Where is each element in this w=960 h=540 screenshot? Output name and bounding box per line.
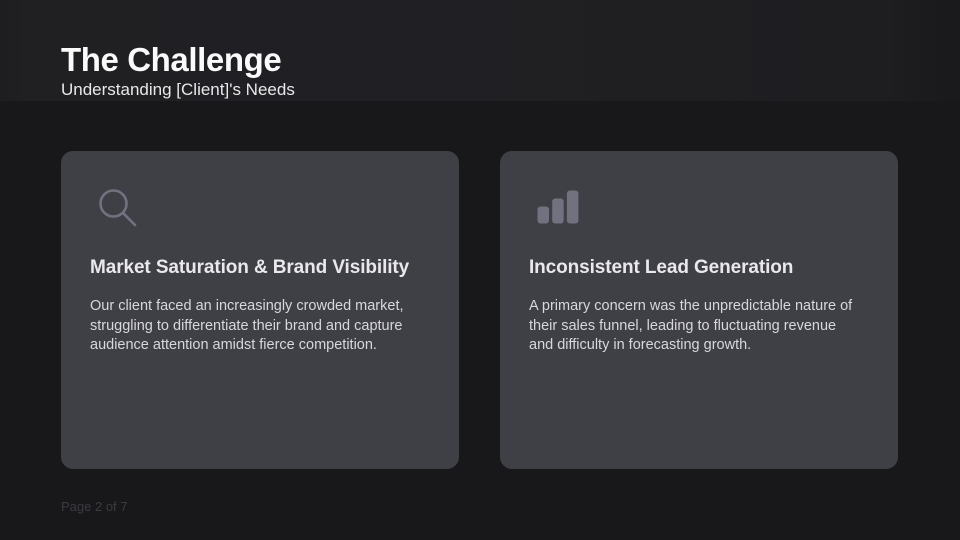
page-subtitle: Understanding [Client]'s Needs	[61, 79, 295, 101]
challenge-card: Market Saturation & Brand Visibility Our…	[61, 151, 459, 469]
bar-chart-icon	[534, 185, 580, 231]
page-title: The Challenge	[61, 40, 281, 80]
page-indicator: Page 2 of 7	[61, 498, 128, 516]
card-title: Inconsistent Lead Generation	[529, 255, 869, 281]
card-title: Market Saturation & Brand Visibility	[90, 255, 430, 281]
slide: The Challenge Understanding [Client]'s N…	[0, 0, 960, 540]
challenge-card: Inconsistent Lead Generation A primary c…	[500, 151, 898, 469]
card-body: Our client faced an increasingly crowded…	[90, 297, 430, 356]
search-icon	[95, 185, 141, 231]
card-body: A primary concern was the unpredictable …	[529, 297, 859, 356]
challenge-card-list: Market Saturation & Brand Visibility Our…	[61, 151, 899, 469]
slide-header: The Challenge Understanding [Client]'s N…	[0, 0, 960, 101]
